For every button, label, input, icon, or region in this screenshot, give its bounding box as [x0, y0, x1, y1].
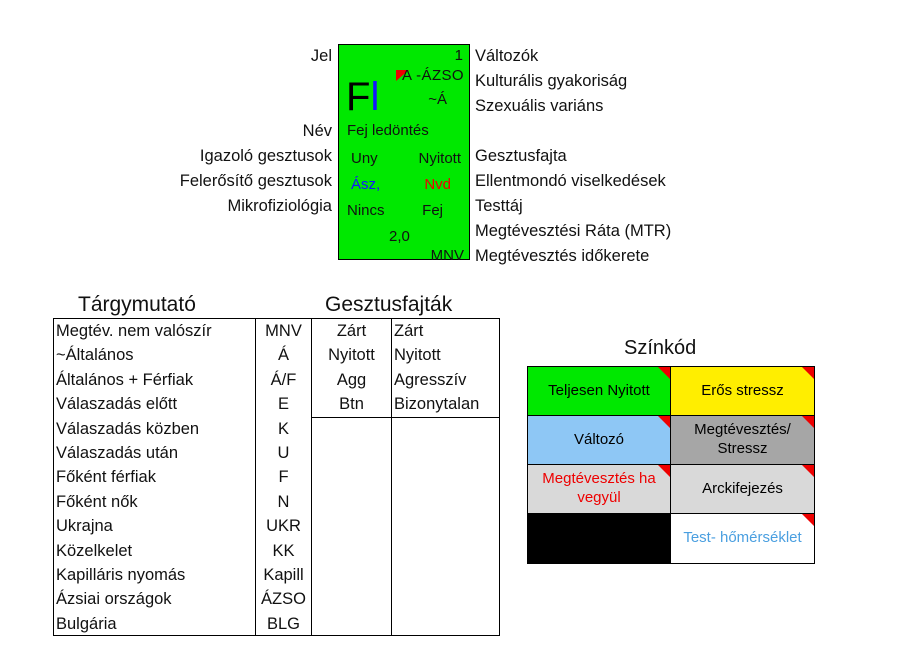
legend-cell-teljesen-nyitott[interactable]: Teljesen Nyitott [528, 367, 671, 416]
card-gesture-right: Nyitott [418, 150, 461, 167]
table-row: Megtév. nem valószír [56, 319, 254, 343]
card-sign-f: F [346, 75, 370, 119]
table-row: Válaszadás után [56, 441, 254, 465]
table-cell-full: Zárt [394, 319, 499, 343]
card-code-label: A -ÁZSO [402, 67, 464, 84]
card-sign-l: l [370, 75, 379, 119]
right-label-testtaj: Testtáj [475, 194, 895, 219]
left-label-spacer-2 [120, 94, 332, 119]
card-sign-glyph: Fl [346, 77, 379, 117]
card-timeframe: MNV [431, 247, 464, 264]
legend-cell-label: Teljesen Nyitott [546, 382, 652, 401]
diagram-right-labels: Változók Kulturális gyakoriság Szexuális… [475, 44, 895, 269]
table-row: Ázsiai országok [56, 587, 254, 611]
index-table-title: Tárgymutató [78, 293, 196, 317]
table-cell-abbr: Nyitott [313, 343, 390, 367]
left-label-felerosito-gesztusok: Felerősítő gesztusok [120, 169, 332, 194]
table-cell-abbr: Zárt [313, 319, 390, 343]
table-cell-abbr: UKR [257, 514, 310, 538]
corner-marker-icon [802, 514, 814, 526]
card-amplify-left: Nincs [347, 202, 385, 219]
table-row: Főként férfiak [56, 465, 254, 489]
card-mtr-value: 2,0 [389, 228, 410, 245]
table-cell-abbr: BLG [257, 612, 310, 636]
legend-cell-eros-stressz[interactable]: Erős stressz [671, 367, 814, 416]
table-divider-3 [391, 319, 392, 635]
legend-cell-arckifejezes[interactable]: Arckifejezés [671, 465, 814, 514]
right-label-valtozok: Változók [475, 44, 895, 69]
table-row: Ukrajna [56, 514, 254, 538]
table-cell-abbr: E [257, 392, 310, 416]
legend-cell-label: Erős stressz [699, 382, 786, 401]
gesture-full-column: Zárt Nyitott Agresszív Bizonytalan [394, 319, 499, 417]
table-cell-abbr: U [257, 441, 310, 465]
left-label-nev: Név [120, 119, 332, 144]
card-tilde-label: ~Á [428, 91, 447, 108]
gesture-table-title: Gesztusfajták [325, 293, 452, 317]
table-cell-abbr: N [257, 490, 310, 514]
left-label-igazolo-gesztusok: Igazoló gesztusok [120, 144, 332, 169]
corner-marker-icon [802, 465, 814, 477]
corner-marker-icon [658, 367, 670, 379]
index-and-gesture-table: Megtév. nem valószír ~Általános Általáno… [53, 318, 500, 636]
card-name: Fej ledöntés [347, 122, 429, 139]
table-row: Válaszadás előtt [56, 392, 254, 416]
table-cell-abbr: Agg [313, 368, 390, 392]
legend-cell-test-homerseklet[interactable]: Test- hőmérséklet [671, 514, 814, 563]
table-row: ~Általános [56, 343, 254, 367]
gesture-abbreviation-column: Zárt Nyitott Agg Btn [313, 319, 390, 417]
right-label-megtevesztesi-rata: Megtévesztési Ráta (MTR) [475, 219, 895, 244]
left-label-mikrofiziologia: Mikrofiziológia [120, 194, 332, 219]
signal-card[interactable]: 1 A -ÁZSO ~Á Fl Fej ledöntés Uny Nyitott… [338, 44, 470, 260]
color-legend: Teljesen Nyitott Erős stressz Változó Me… [527, 366, 815, 564]
table-cell-abbr: K [257, 417, 310, 441]
corner-marker-icon [802, 367, 814, 379]
legend-cell-megteveszte-stressz[interactable]: Megtévesztés/ Stressz [671, 416, 814, 465]
right-label-szexualis-varians: Szexuális variáns [475, 94, 895, 119]
gesture-table-bottom-rule [311, 417, 500, 418]
signal-card-diagram: Jel Név Igazoló gesztusok Felerősítő ges… [0, 0, 915, 280]
right-label-kulturalis-gyakorisag: Kulturális gyakoriság [475, 69, 895, 94]
card-confirm-left: Ász, [351, 176, 380, 193]
table-cell-full: Agresszív [394, 368, 499, 392]
table-cell-abbr: Btn [313, 392, 390, 416]
legend-cell-label: Test- hőmérséklet [681, 529, 803, 548]
table-cell-abbr: Kapill [257, 563, 310, 587]
table-cell-abbr: F [257, 465, 310, 489]
table-cell-abbr: Á/F [257, 368, 310, 392]
table-cell-full: Bizonytalan [394, 392, 499, 416]
table-cell-abbr: KK [257, 539, 310, 563]
diagram-left-labels: Jel Név Igazoló gesztusok Felerősítő ges… [120, 44, 332, 219]
table-row: Közelkelet [56, 539, 254, 563]
legend-cell-label: Változó [572, 431, 626, 450]
legend-cell-label: Arckifejezés [700, 480, 785, 499]
legend-cell-valtozo[interactable]: Változó [528, 416, 671, 465]
table-cell-abbr: ÁZSO [257, 587, 310, 611]
table-row: Általános + Férfiak [56, 368, 254, 392]
left-label-jel: Jel [120, 44, 332, 69]
card-confirm-right: Nvd [424, 176, 451, 193]
index-name-column: Megtév. nem valószír ~Általános Általáno… [56, 319, 254, 636]
table-row: Kapilláris nyomás [56, 563, 254, 587]
card-amplify-right: Fej [422, 202, 443, 219]
table-cell-abbr: MNV [257, 319, 310, 343]
card-number: 1 [455, 47, 463, 64]
right-label-ellentmondo-viselkedesek: Ellentmondó viselkedések [475, 169, 895, 194]
legend-cell-empty-black[interactable] [528, 514, 671, 563]
right-label-spacer [475, 119, 895, 144]
legend-title: Színkód [624, 337, 696, 360]
index-abbreviation-column: MNV Á Á/F E K U F N UKR KK Kapill ÁZSO B… [257, 319, 310, 636]
card-gesture-left: Uny [351, 150, 378, 167]
right-label-megteveszte-idokerete: Megtévesztés időkerete [475, 244, 895, 269]
table-cell-full: Nyitott [394, 343, 499, 367]
legend-cell-label: Megtévesztés/ Stressz [671, 421, 814, 459]
corner-marker-icon [658, 416, 670, 428]
table-cell-abbr: Á [257, 343, 310, 367]
left-label-spacer-1 [120, 69, 332, 94]
legend-cell-label: Megtévesztés ha vegyül [528, 470, 670, 508]
table-row: Bulgária [56, 612, 254, 636]
table-row: Válaszadás közben [56, 417, 254, 441]
table-row: Főként nők [56, 490, 254, 514]
right-label-gesztusfajta: Gesztusfajta [475, 144, 895, 169]
legend-cell-megteveszte-ha-vegyul[interactable]: Megtévesztés ha vegyül [528, 465, 671, 514]
